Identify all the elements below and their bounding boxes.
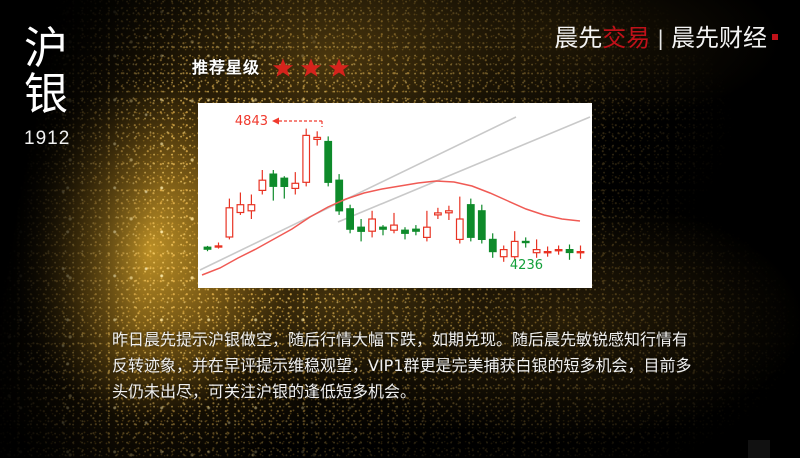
candle-body [457,219,464,239]
star-icon [300,57,322,79]
candle-body [270,174,277,186]
low-label: 4236 [510,258,543,273]
brand-name-accent: 交易 [602,24,650,52]
candle-body [435,213,442,215]
candle-body [204,247,211,249]
candle-body [369,219,376,231]
rating-stars [272,57,356,79]
summary-line-1: 昨日晨先提示沪银做空，随后行情大幅下跌，如期兑现。随后晨先敏锐感知行情有 [112,327,712,353]
title-char-2: 银 [24,72,110,118]
candle-body [500,250,507,257]
candle-body [544,252,551,253]
candle-body [292,183,299,188]
candle-body [566,250,573,253]
analysis-summary: 昨日晨先提示沪银做空，随后行情大幅下跌，如期兑现。随后晨先敏锐感知行情有 反转迹… [112,327,712,405]
brand-logo: 晨先 交易 | 晨先财经 [554,24,778,52]
poster-root: 沪 银 1912 晨先 交易 | 晨先财经 推荐星级 48434236 昨日晨先… [0,0,800,458]
contract-code: 1912 [24,128,110,150]
candle-body [522,241,529,242]
recommendation-rating: 推荐星级 [192,57,356,79]
summary-line-2: 反转迹象，并在早评提示维稳观望，VIP1群更是完美捕获白银的短多机会，目前多 [112,353,712,379]
candle-body [358,227,365,231]
candle-body [555,250,562,251]
candle-body [248,205,255,211]
brand-name-part1: 晨先 [554,24,602,52]
brand-separator: | [657,24,664,52]
star-icon [328,57,350,79]
candle-body [413,229,420,231]
candle-body [446,211,453,213]
candle-body [511,241,518,256]
brand-dot-icon [772,34,778,40]
candle-body [391,225,398,230]
candle-body [281,178,288,186]
candle-body [577,252,584,253]
star-icon [272,57,294,79]
candle-body [490,239,497,251]
candle-body [468,205,475,238]
candle-body [402,230,409,233]
candle-body [325,142,332,183]
candle-body [303,135,310,182]
candle-body [237,205,244,213]
title-char-1: 沪 [24,26,110,72]
summary-line-3: 头仍未出尽，可关注沪银的逢低短多机会。 [112,379,712,405]
candle-body [215,246,222,247]
corner-marker [748,440,770,458]
high-label: 4843 [235,114,268,129]
candlestick-chart: 48434236 [198,103,592,288]
candle-body [533,250,540,253]
candle-body [314,137,321,139]
candle-body [259,180,266,190]
candle-body [380,227,387,229]
candle-body [479,211,486,240]
rating-label: 推荐星级 [192,59,260,77]
candle-body [347,209,354,229]
candle-body [424,227,431,237]
candle-body [226,208,233,237]
page-title: 沪 银 1912 [24,26,110,150]
candlestick-chart-panel: 48434236 [198,103,592,288]
candle-body [336,180,343,211]
brand-name-part2: 晨先财经 [671,24,767,52]
